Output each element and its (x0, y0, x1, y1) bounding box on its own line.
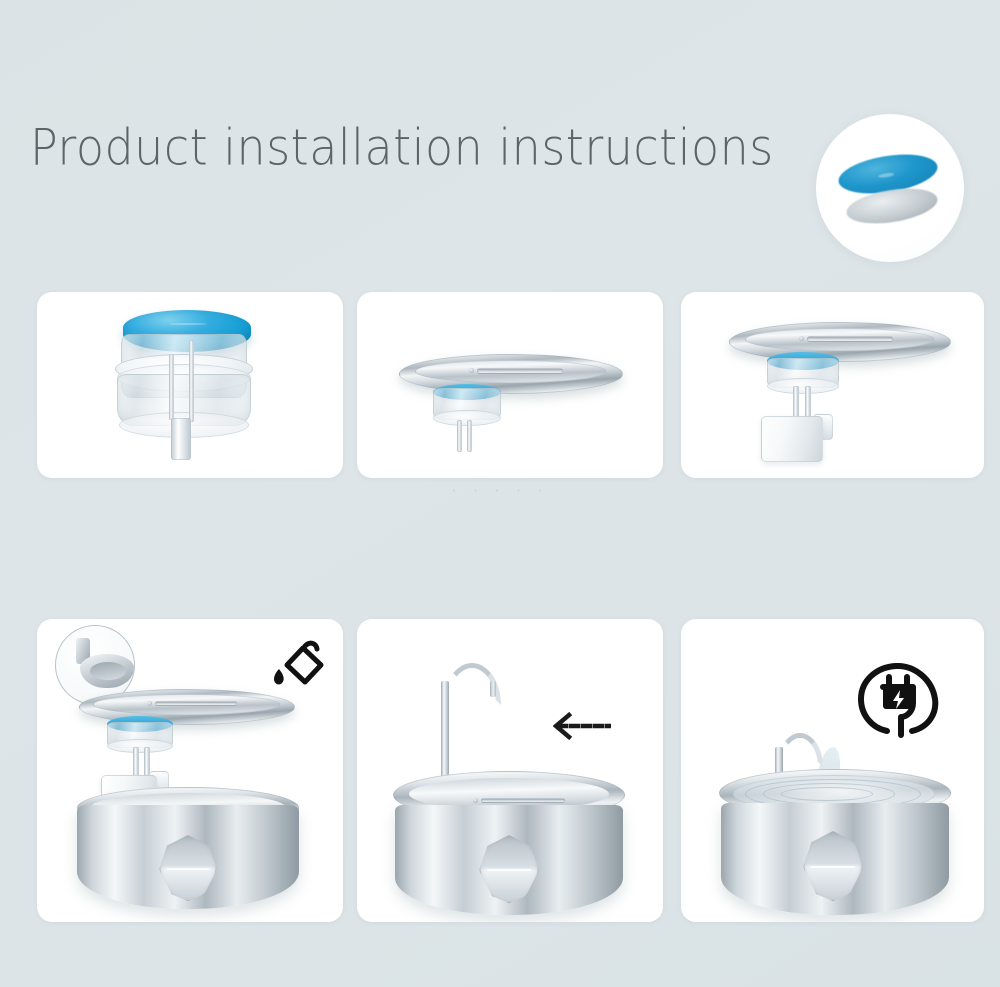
water-level-line (167, 868, 210, 870)
power-plug-icon (855, 657, 941, 739)
step-panel-3 (681, 292, 984, 478)
tray-screw-dot (147, 701, 152, 706)
water-level-line (487, 869, 531, 871)
connector-tube-left (133, 747, 139, 777)
tray-screw-dot (799, 336, 804, 341)
step-4-illustration (37, 619, 343, 922)
pour-water-icon (267, 635, 329, 695)
step-6-illustration (681, 619, 984, 922)
outlet-tube-right (467, 420, 472, 452)
tray-center-slot (155, 701, 237, 706)
step-panel-2 (357, 292, 663, 478)
product-parts-badge (816, 114, 964, 262)
connector-tube-left (793, 386, 799, 418)
step-2-illustration (357, 292, 663, 478)
hook-shadow (90, 662, 126, 680)
step-3-illustration (681, 292, 984, 478)
spout-post (441, 681, 449, 779)
water-level-line (811, 866, 855, 868)
inner-tube-right (189, 340, 194, 422)
step-5-illustration (357, 619, 663, 922)
curved-spout (777, 733, 823, 767)
filter-bottom-ring (107, 739, 173, 753)
water-ripple-inner (781, 787, 873, 801)
spout-tip (490, 681, 496, 697)
tray-center-slot (477, 368, 563, 374)
step-1-illustration (37, 292, 343, 478)
step-panel-4 (37, 619, 343, 922)
step-panel-5 (357, 619, 663, 922)
tray-center-slot (807, 336, 893, 342)
connector-tube-right (805, 386, 811, 418)
outlet-tube (171, 418, 191, 460)
water-pump (761, 416, 823, 462)
outlet-tube-left (457, 420, 462, 452)
inner-tube-left (169, 354, 174, 420)
filter-bottom-ring (767, 378, 839, 394)
lid-screw-dot (473, 798, 478, 803)
tray-screw-dot (469, 368, 474, 373)
page-title: Product installation instructions (30, 118, 774, 176)
installation-instructions-page: Product installation instructions (0, 0, 1000, 987)
step-panel-1 (37, 292, 343, 478)
lid-center-slot (481, 798, 565, 803)
left-dashed-arrow-icon (553, 711, 611, 741)
row-watermark: · · · · · (0, 482, 1000, 500)
step-panel-6 (681, 619, 984, 922)
